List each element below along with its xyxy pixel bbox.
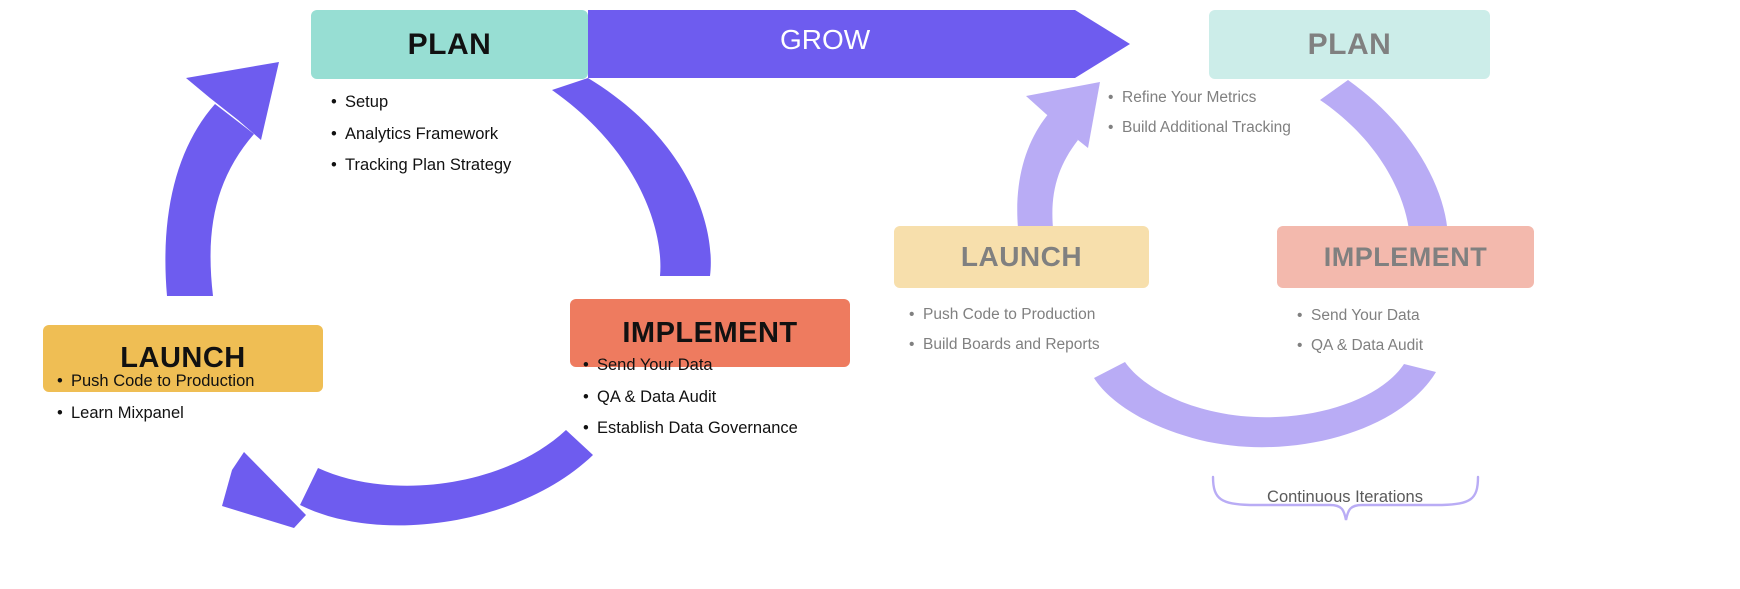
continuous-iterations-label: Continuous Iterations xyxy=(1136,488,1554,507)
bullet-glyph: • xyxy=(1297,306,1311,325)
grow-arrow-label: GROW xyxy=(780,24,870,56)
list-item: • QA & Data Audit xyxy=(1297,336,1423,355)
list-item: • QA & Data Audit xyxy=(583,387,798,408)
stage-title-implement: IMPLEMENT xyxy=(622,317,797,350)
list-item: • Refine Your Metrics xyxy=(1108,88,1291,107)
list-item: • Push Code to Production xyxy=(909,305,1100,324)
bullet-text: Refine Your Metrics xyxy=(1122,88,1256,107)
bullet-text: QA & Data Audit xyxy=(1311,336,1423,355)
bullet-text: Build Additional Tracking xyxy=(1122,118,1291,137)
list-item: • Build Boards and Reports xyxy=(909,335,1100,354)
bullet-text: Tracking Plan Strategy xyxy=(345,155,511,176)
repeat-stage-bullets-implement: • Send Your Data • QA & Data Audit xyxy=(1297,306,1423,367)
bullet-text: Push Code to Production xyxy=(71,371,254,392)
list-item: • Push Code to Production xyxy=(57,371,254,392)
bullet-glyph: • xyxy=(331,155,345,176)
repeat-stage-title-plan: PLAN xyxy=(1308,28,1392,62)
arrow-repeat-implement-to-launch xyxy=(1094,362,1436,447)
bullet-text: QA & Data Audit xyxy=(597,387,716,408)
bullet-glyph: • xyxy=(1108,88,1122,107)
bullet-text: Analytics Framework xyxy=(345,124,498,145)
repeat-stage-title-launch: LAUNCH xyxy=(961,241,1082,273)
bullet-glyph: • xyxy=(583,355,597,376)
repeat-stage-title-implement: IMPLEMENT xyxy=(1324,242,1488,273)
list-item: • Establish Data Governance xyxy=(583,418,798,439)
list-item: • Analytics Framework xyxy=(331,124,511,145)
arrow-repeat-launch-to-plan xyxy=(1017,82,1100,228)
bullet-glyph: • xyxy=(57,371,71,392)
arrow-repeat-plan-to-implement xyxy=(1320,80,1448,240)
repeat-stage-bullets-launch: • Push Code to Production • Build Boards… xyxy=(909,305,1100,366)
lifecycle-diagram: PLAN • Setup • Analytics Framework • Tra… xyxy=(0,0,1740,589)
list-item: • Build Additional Tracking xyxy=(1108,118,1291,137)
arrow-plan-to-implement xyxy=(552,78,711,276)
bullet-glyph: • xyxy=(1297,336,1311,355)
repeat-stage-bullets-plan: • Refine Your Metrics • Build Additional… xyxy=(1108,88,1291,149)
list-item: • Send Your Data xyxy=(1297,306,1423,325)
bullet-text: Send Your Data xyxy=(597,355,713,376)
bullet-text: Send Your Data xyxy=(1311,306,1420,325)
bullet-glyph: • xyxy=(331,92,345,113)
stage-bullets-plan: • Setup • Analytics Framework • Tracking… xyxy=(331,92,511,187)
bullet-text: Push Code to Production xyxy=(923,305,1095,324)
bullet-glyph: • xyxy=(331,124,345,145)
list-item: • Learn Mixpanel xyxy=(57,403,254,424)
repeat-stage-box-launch[interactable]: LAUNCH xyxy=(894,226,1149,288)
bullet-glyph: • xyxy=(583,418,597,439)
bullet-text: Build Boards and Reports xyxy=(923,335,1100,354)
bullet-text: Learn Mixpanel xyxy=(71,403,184,424)
list-item: • Setup xyxy=(331,92,511,113)
bullet-glyph: • xyxy=(909,335,923,354)
bullet-text: Setup xyxy=(345,92,388,113)
bullet-glyph: • xyxy=(57,403,71,424)
list-item: • Send Your Data xyxy=(583,355,798,376)
list-item: • Tracking Plan Strategy xyxy=(331,155,511,176)
arrow-launch-to-plan xyxy=(165,62,279,296)
stage-bullets-launch: • Push Code to Production • Learn Mixpan… xyxy=(57,371,254,434)
bullet-glyph: • xyxy=(909,305,923,324)
stage-title-plan: PLAN xyxy=(408,28,492,62)
stage-box-plan[interactable]: PLAN xyxy=(311,10,588,79)
bullet-glyph: • xyxy=(1108,118,1122,137)
bullet-glyph: • xyxy=(583,387,597,408)
repeat-stage-box-implement[interactable]: IMPLEMENT xyxy=(1277,226,1534,288)
stage-bullets-implement: • Send Your Data • QA & Data Audit • Est… xyxy=(583,355,798,450)
repeat-stage-box-plan[interactable]: PLAN xyxy=(1209,10,1490,79)
arrow-implement-to-launch xyxy=(222,430,593,528)
bullet-text: Establish Data Governance xyxy=(597,418,798,439)
